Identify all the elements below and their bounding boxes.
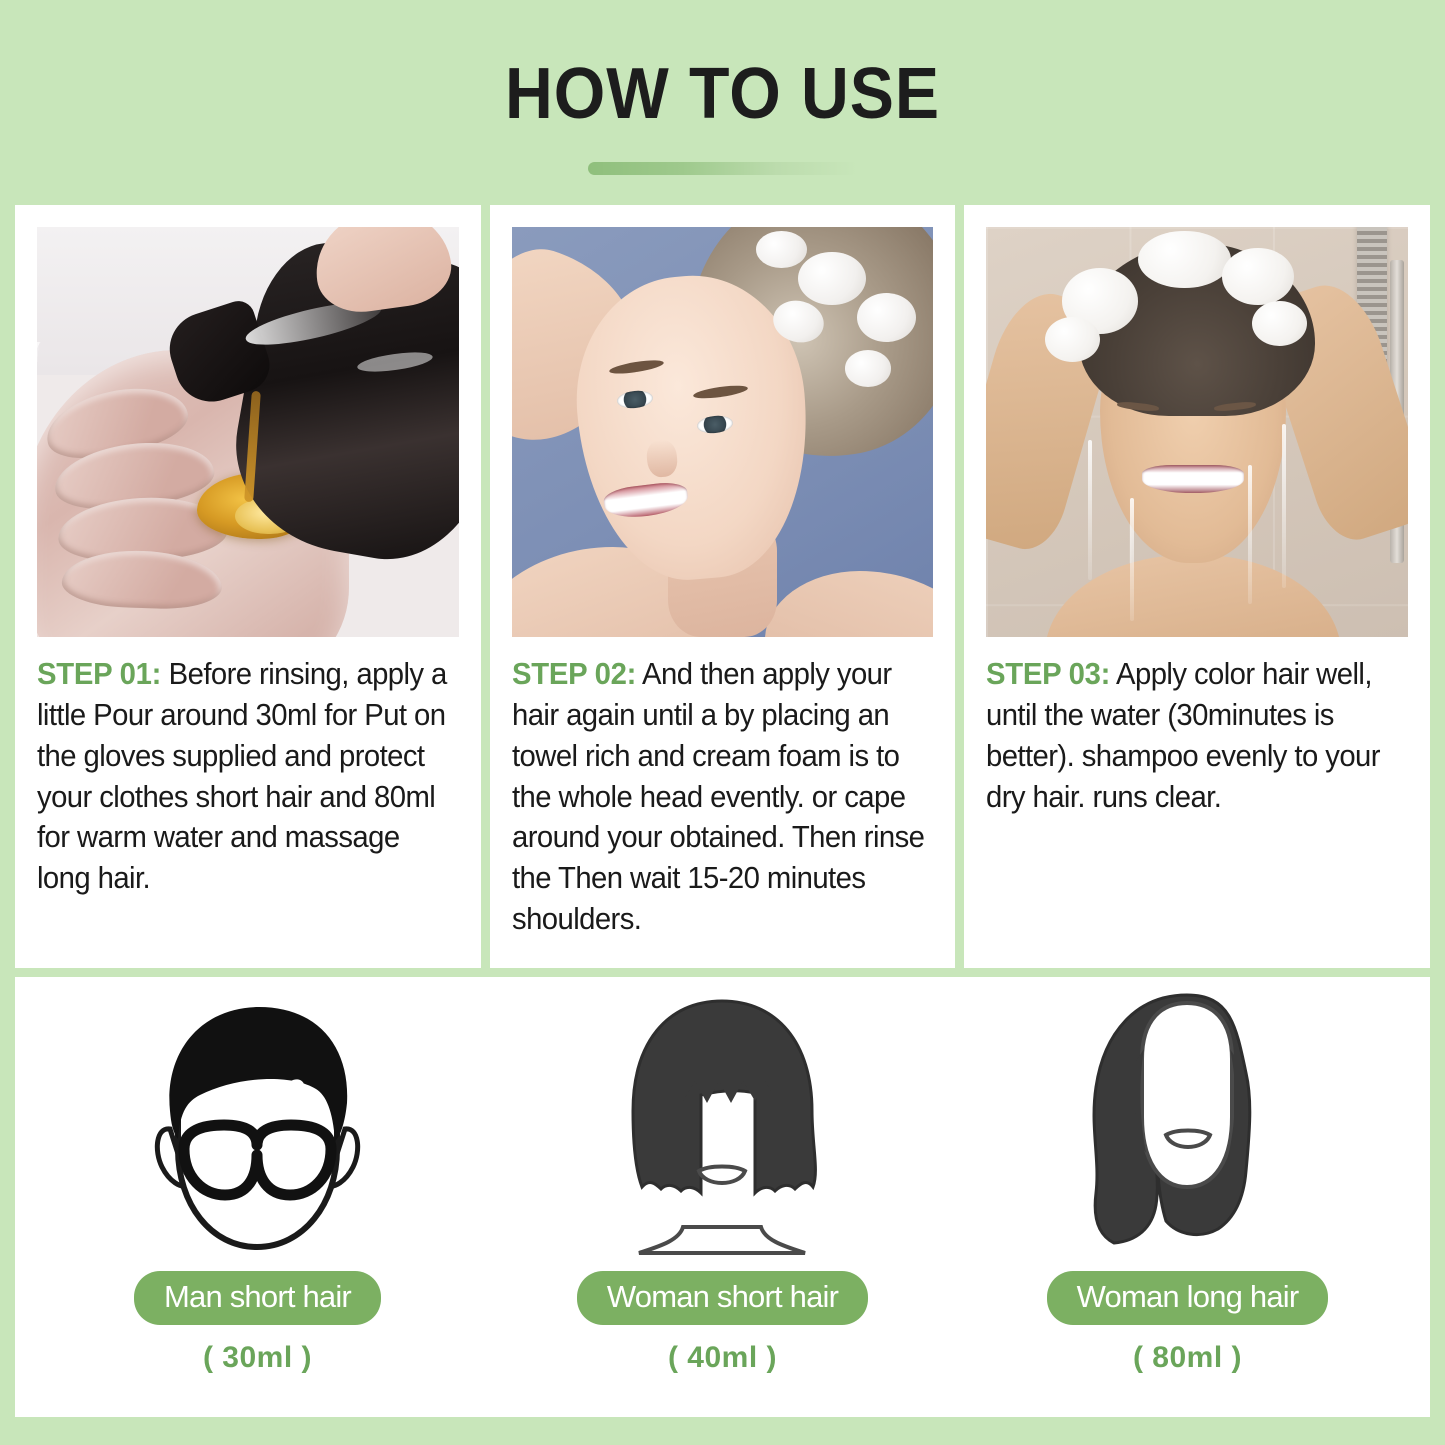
page-title: HOW TO USE: [72, 58, 1374, 130]
header: HOW TO USE: [15, 0, 1430, 205]
woman-lathering-hair-photo: [512, 227, 934, 637]
water-drip: [1088, 440, 1092, 579]
man-short-hair-icon: [140, 999, 375, 1257]
step-label: STEP 03:: [986, 657, 1110, 691]
water-drip: [1248, 465, 1252, 604]
step-body-text: And then apply your hair again until a b…: [512, 657, 924, 936]
smiling-mouth-shape: [1142, 465, 1243, 494]
foam-blob: [857, 293, 916, 342]
step-description: STEP 01: Before rinsing, apply a little …: [37, 654, 458, 899]
woman-rinsing-hair-in-shower-photo: [986, 227, 1408, 637]
foam-blob: [798, 252, 865, 305]
how-to-use-infographic: HOW TO USE: [0, 0, 1445, 1445]
title-underline-divider: [588, 162, 858, 175]
step-description: STEP 02: And then apply your hair again …: [512, 654, 933, 940]
volume-man-short-hair: ( 30ml ): [203, 1341, 312, 1375]
step-label: STEP 02:: [512, 657, 636, 691]
woman-short-hair-icon: [605, 995, 840, 1257]
suds-blob: [1222, 248, 1294, 305]
woman-short-hair-figure: [605, 995, 840, 1257]
step-body-text: Before rinsing, apply a little Pour arou…: [37, 657, 447, 895]
dosage-panel: Man short hair ( 30ml ) Woman: [15, 977, 1430, 1417]
water-drip: [1130, 498, 1134, 621]
dosage-item-woman-short-hair: Woman short hair ( 40ml ): [490, 995, 955, 1407]
woman-long-hair-figure: [1070, 995, 1305, 1257]
step-card-02: STEP 02: And then apply your hair again …: [490, 205, 956, 968]
foam-blob: [845, 350, 891, 387]
water-drip: [1282, 424, 1286, 588]
volume-woman-short-hair: ( 40ml ): [668, 1341, 777, 1375]
step-card-03: STEP 03: Apply color hair well, until th…: [964, 205, 1430, 968]
dosage-item-man-short-hair: Man short hair ( 30ml ): [25, 995, 490, 1407]
pouring-oil-onto-gloved-hand-photo: [37, 227, 459, 637]
shoulder-shape: [765, 571, 934, 637]
pill-woman-long-hair: Woman long hair: [1047, 1271, 1329, 1325]
step-label: STEP 01:: [37, 657, 161, 691]
suds-blob: [1138, 231, 1231, 288]
woman-long-hair-icon: [1070, 989, 1305, 1257]
step-card-01: STEP 01: Before rinsing, apply a little …: [15, 205, 481, 968]
dosage-item-woman-long-hair: Woman long hair ( 80ml ): [955, 995, 1420, 1407]
pill-woman-short-hair: Woman short hair: [577, 1271, 868, 1325]
pill-man-short-hair: Man short hair: [134, 1271, 381, 1325]
volume-woman-long-hair: ( 80ml ): [1133, 1341, 1242, 1375]
step-description: STEP 03: Apply color hair well, until th…: [986, 654, 1407, 817]
foam-blob: [756, 231, 807, 268]
suds-blob: [1252, 301, 1307, 346]
man-short-hair-figure: [140, 995, 375, 1257]
steps-row: STEP 01: Before rinsing, apply a little …: [15, 205, 1430, 968]
